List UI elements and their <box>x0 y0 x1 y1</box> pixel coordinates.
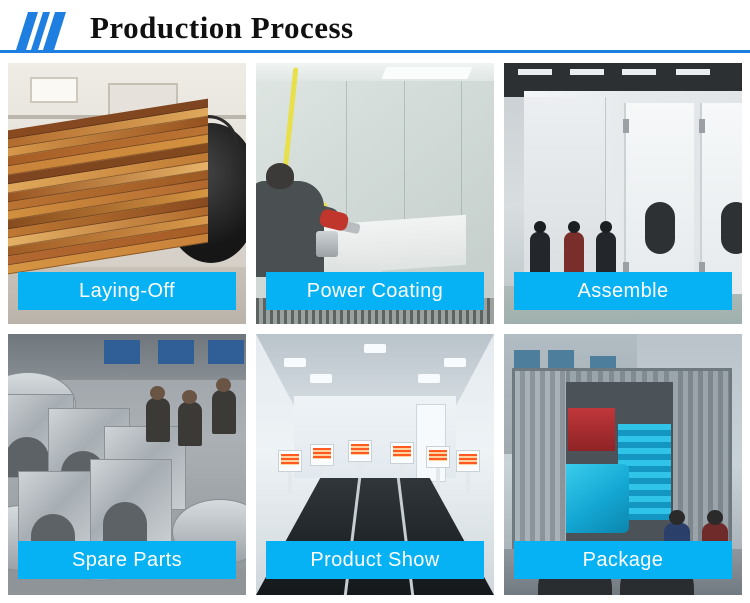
caption-assemble: Assemble <box>514 272 732 310</box>
triple-slash-logo-icon <box>14 10 68 52</box>
caption-package: Package <box>514 541 732 579</box>
gallery-item-spare-parts[interactable]: Spare Parts <box>8 334 246 595</box>
page-title: Production Process <box>90 8 354 48</box>
caption-laying-off: Laying-Off <box>18 272 236 310</box>
caption-spare-parts: Spare Parts <box>18 541 236 579</box>
gallery-item-laying-off[interactable]: Laying-Off <box>8 63 246 324</box>
gallery-item-product-show[interactable]: Product Show <box>256 334 494 595</box>
gallery-item-package[interactable]: Package <box>504 334 742 595</box>
timber-stack <box>8 99 208 282</box>
gallery-item-power-coating[interactable]: Power Coating <box>256 63 494 324</box>
caption-product-show: Product Show <box>266 541 484 579</box>
page-header: Production Process <box>0 0 750 56</box>
caption-power-coating: Power Coating <box>266 272 484 310</box>
process-gallery-grid: Laying-Off Power Coating <box>0 57 750 603</box>
header-underline-rule <box>0 50 750 53</box>
gallery-item-assemble[interactable]: Assemble <box>504 63 742 324</box>
